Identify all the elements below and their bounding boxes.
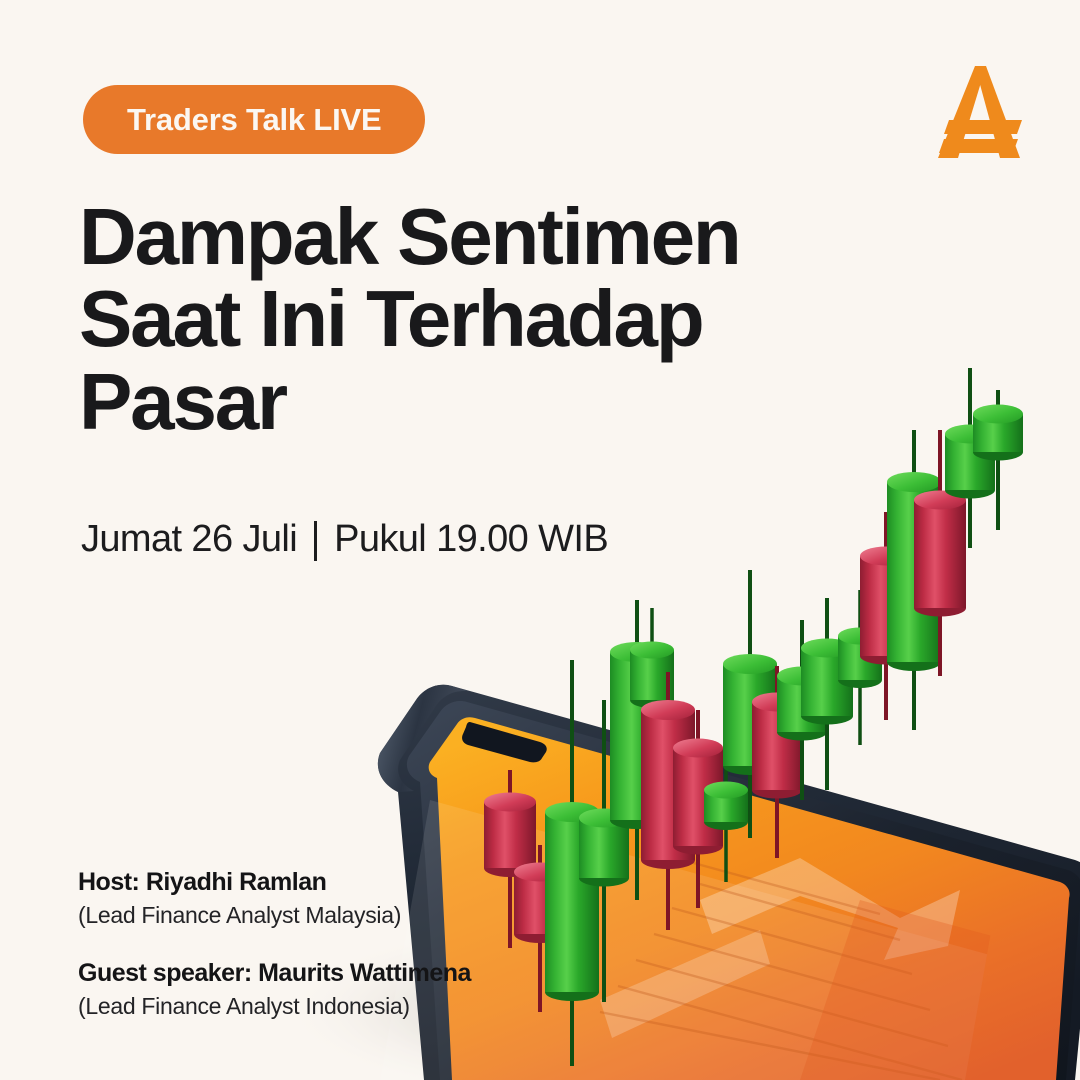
screen-arrow-graphic-2 [600, 930, 770, 1038]
candle-4-bullish [579, 700, 629, 1002]
guest-name: Guest speaker: Maurits Wattimena [78, 957, 471, 989]
phone-body [378, 685, 1080, 1080]
candle-15-bearish [860, 512, 912, 720]
screen-grid-lines [600, 862, 962, 1080]
candle-10-bullish [723, 570, 777, 838]
speaker-credits: Host: Riyadhi Ramlan (Lead Finance Analy… [78, 866, 471, 1022]
page-title: Dampak Sentimen Saat Ini Terhadap Pasar [79, 196, 799, 443]
candle-9-bullish [704, 750, 748, 882]
phone-screen [429, 717, 1070, 1080]
candle-3-bullish [545, 660, 599, 1066]
candle-19-bullish [973, 390, 1023, 530]
candle-17-bearish [914, 430, 966, 676]
guest-role: (Lead Finance Analyst Indonesia) [78, 992, 471, 1022]
title-line-1: Dampak Sentimen [79, 196, 799, 278]
phone-rim [378, 685, 468, 792]
candle-7-bearish [641, 672, 695, 930]
event-datetime: Jumat 26 Juli Pukul 19.00 WIB [81, 518, 608, 561]
candlestick-series [484, 368, 1023, 1066]
phone-side-button-bottom [436, 839, 489, 862]
event-time: Pukul 19.00 WIB [334, 518, 608, 561]
host-block: Host: Riyadhi Ramlan (Lead Finance Analy… [78, 866, 471, 931]
screen-arrow-graphic [700, 858, 960, 960]
candle-8-bearish [673, 710, 723, 908]
guest-block: Guest speaker: Maurits Wattimena (Lead F… [78, 957, 471, 1022]
candle-2-bearish [514, 845, 566, 1012]
promo-poster: Traders Talk LIVE Dampak Sentimen Saat I… [0, 0, 1080, 1080]
candle-11-bearish [752, 666, 802, 858]
screen-light-sweep [380, 800, 1080, 1080]
candle-1-bearish [484, 770, 536, 948]
brand-logo-icon [928, 60, 1034, 164]
candle-13-bullish [801, 598, 853, 790]
phone-bezel [407, 701, 1080, 1080]
candle-6-bullish [630, 608, 674, 762]
event-date: Jumat 26 Juli [81, 518, 297, 561]
candle-18-bullish [945, 368, 995, 548]
candle-16-bullish [887, 430, 941, 730]
host-name: Host: Riyadhi Ramlan [78, 866, 471, 898]
phone-side-button-top [424, 736, 459, 764]
phone-notch [462, 722, 547, 762]
live-badge[interactable]: Traders Talk LIVE [83, 85, 425, 154]
candle-14-bullish [838, 590, 882, 745]
smartphone [378, 685, 1080, 1080]
title-line-2: Saat Ini Terhadap [79, 278, 799, 360]
host-role: (Lead Finance Analyst Malaysia) [78, 901, 471, 931]
candle-5-bullish [610, 600, 664, 900]
title-line-3: Pasar [79, 361, 799, 443]
datetime-separator [314, 521, 317, 561]
candle-12-bullish [777, 620, 827, 800]
live-badge-label: Traders Talk LIVE [127, 102, 381, 138]
